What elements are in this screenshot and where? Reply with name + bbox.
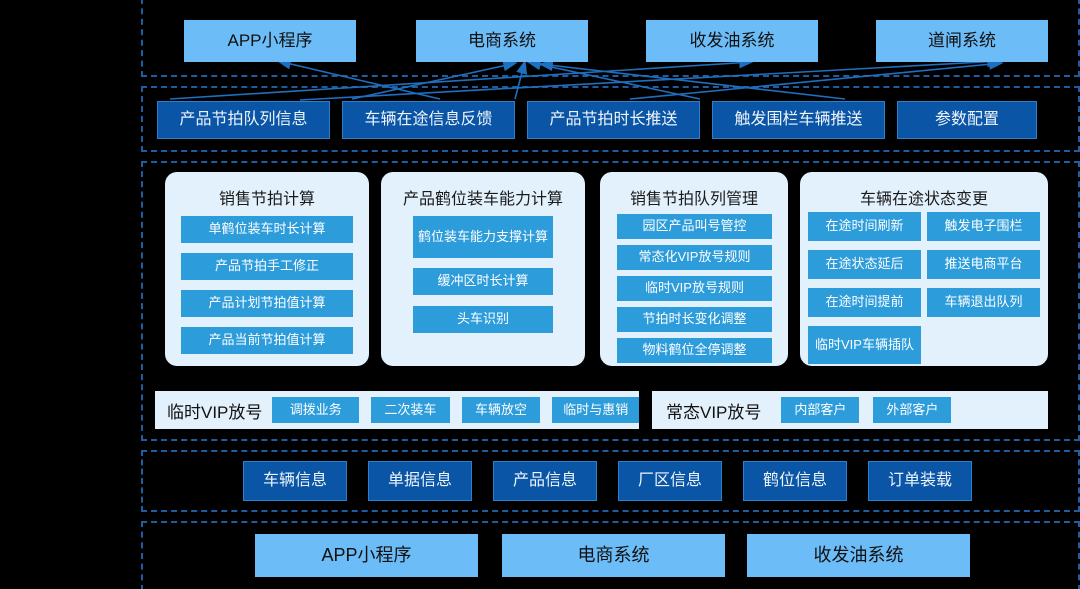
top-system-oil[interactable]: 收发油系统 [646,20,818,62]
panel-item[interactable]: 车辆退出队列 [927,288,1040,317]
panel-loading-capacity-calculation: 产品鹤位装车能力计算 鹤位装车能力支撑计算 缓冲区时长计算 头车识别 [381,172,585,366]
strip-item[interactable]: 车辆放空 [462,397,541,423]
bottom-system-app[interactable]: APP小程序 [255,534,478,577]
strip-item[interactable]: 调拨业务 [272,397,359,423]
master-data-loading-arm[interactable]: 鹤位信息 [743,461,847,501]
master-data-vehicle[interactable]: 车辆信息 [243,461,347,501]
strip-label: 常态VIP放号 [666,398,761,423]
panel-item[interactable]: 临时VIP放号规则 [617,276,772,301]
panel-item[interactable]: 园区产品叫号管控 [617,214,772,239]
strip-item[interactable]: 内部客户 [781,397,859,423]
interface-product-queue-info[interactable]: 产品节拍队列信息 [157,101,330,139]
panel-item[interactable]: 鹤位装车能力支撑计算 [413,216,553,258]
interface-parameter-config[interactable]: 参数配置 [897,101,1037,139]
panel-item[interactable]: 推送电商平台 [927,250,1040,279]
panel-takt-queue-management: 销售节拍队列管理 园区产品叫号管控 常态化VIP放号规则 临时VIP放号规则 节… [600,172,788,366]
panel-title: 销售节拍计算 [165,185,369,209]
panel-item[interactable]: 在途时间提前 [808,288,921,317]
interface-takt-duration-push[interactable]: 产品节拍时长推送 [527,101,700,139]
master-data-product[interactable]: 产品信息 [493,461,597,501]
panel-item[interactable]: 单鹤位装车时长计算 [181,216,353,243]
panel-item[interactable]: 触发电子围栏 [927,212,1040,241]
panel-item[interactable]: 在途状态延后 [808,250,921,279]
panel-item[interactable]: 产品节拍手工修正 [181,253,353,280]
panel-item[interactable]: 头车识别 [413,306,553,333]
panel-item[interactable]: 常态化VIP放号规则 [617,245,772,270]
panel-item[interactable]: 物料鹤位全停调整 [617,338,772,363]
diagram-canvas: APP小程序 电商系统 收发油系统 道闸系统 产品节拍队列信息 车辆在途信息反馈… [0,0,1080,589]
panel-item[interactable]: 在途时间刷新 [808,212,921,241]
top-system-gate[interactable]: 道闸系统 [876,20,1048,62]
panel-title: 产品鹤位装车能力计算 [381,185,585,209]
strip-label: 临时VIP放号 [167,398,262,423]
panel-title: 车辆在途状态变更 [800,185,1048,209]
bottom-system-ecommerce[interactable]: 电商系统 [502,534,725,577]
master-data-document[interactable]: 单据信息 [368,461,472,501]
master-data-order-loading[interactable]: 订单装载 [868,461,972,501]
panel-sales-takt-calculation: 销售节拍计算 单鹤位装车时长计算 产品节拍手工修正 产品计划节拍值计算 产品当前… [165,172,369,366]
panel-item[interactable]: 产品当前节拍值计算 [181,327,353,354]
bottom-system-oil[interactable]: 收发油系统 [747,534,970,577]
top-system-app[interactable]: APP小程序 [184,20,356,62]
strip-temporary-vip: 临时VIP放号 调拨业务 二次装车 车辆放空 临时与惠销 [155,391,639,429]
top-system-ecommerce[interactable]: 电商系统 [416,20,588,62]
panel-item[interactable]: 节拍时长变化调整 [617,307,772,332]
strip-item[interactable]: 外部客户 [873,397,951,423]
panel-item[interactable]: 产品计划节拍值计算 [181,290,353,317]
interface-vehicle-transit-feedback[interactable]: 车辆在途信息反馈 [342,101,515,139]
panel-transit-status-change: 车辆在途状态变更 在途时间刷新 在途状态延后 在途时间提前 临时VIP车辆插队 … [800,172,1048,366]
panel-item[interactable]: 缓冲区时长计算 [413,268,553,295]
strip-item[interactable]: 临时与惠销 [552,397,639,423]
master-data-plant[interactable]: 厂区信息 [618,461,722,501]
panel-item[interactable]: 临时VIP车辆插队 [808,326,921,364]
panel-title: 销售节拍队列管理 [600,185,788,209]
strip-normal-vip: 常态VIP放号 内部客户 外部客户 [652,391,1048,429]
strip-item[interactable]: 二次装车 [371,397,450,423]
interface-geofence-vehicle-push[interactable]: 触发围栏车辆推送 [712,101,885,139]
